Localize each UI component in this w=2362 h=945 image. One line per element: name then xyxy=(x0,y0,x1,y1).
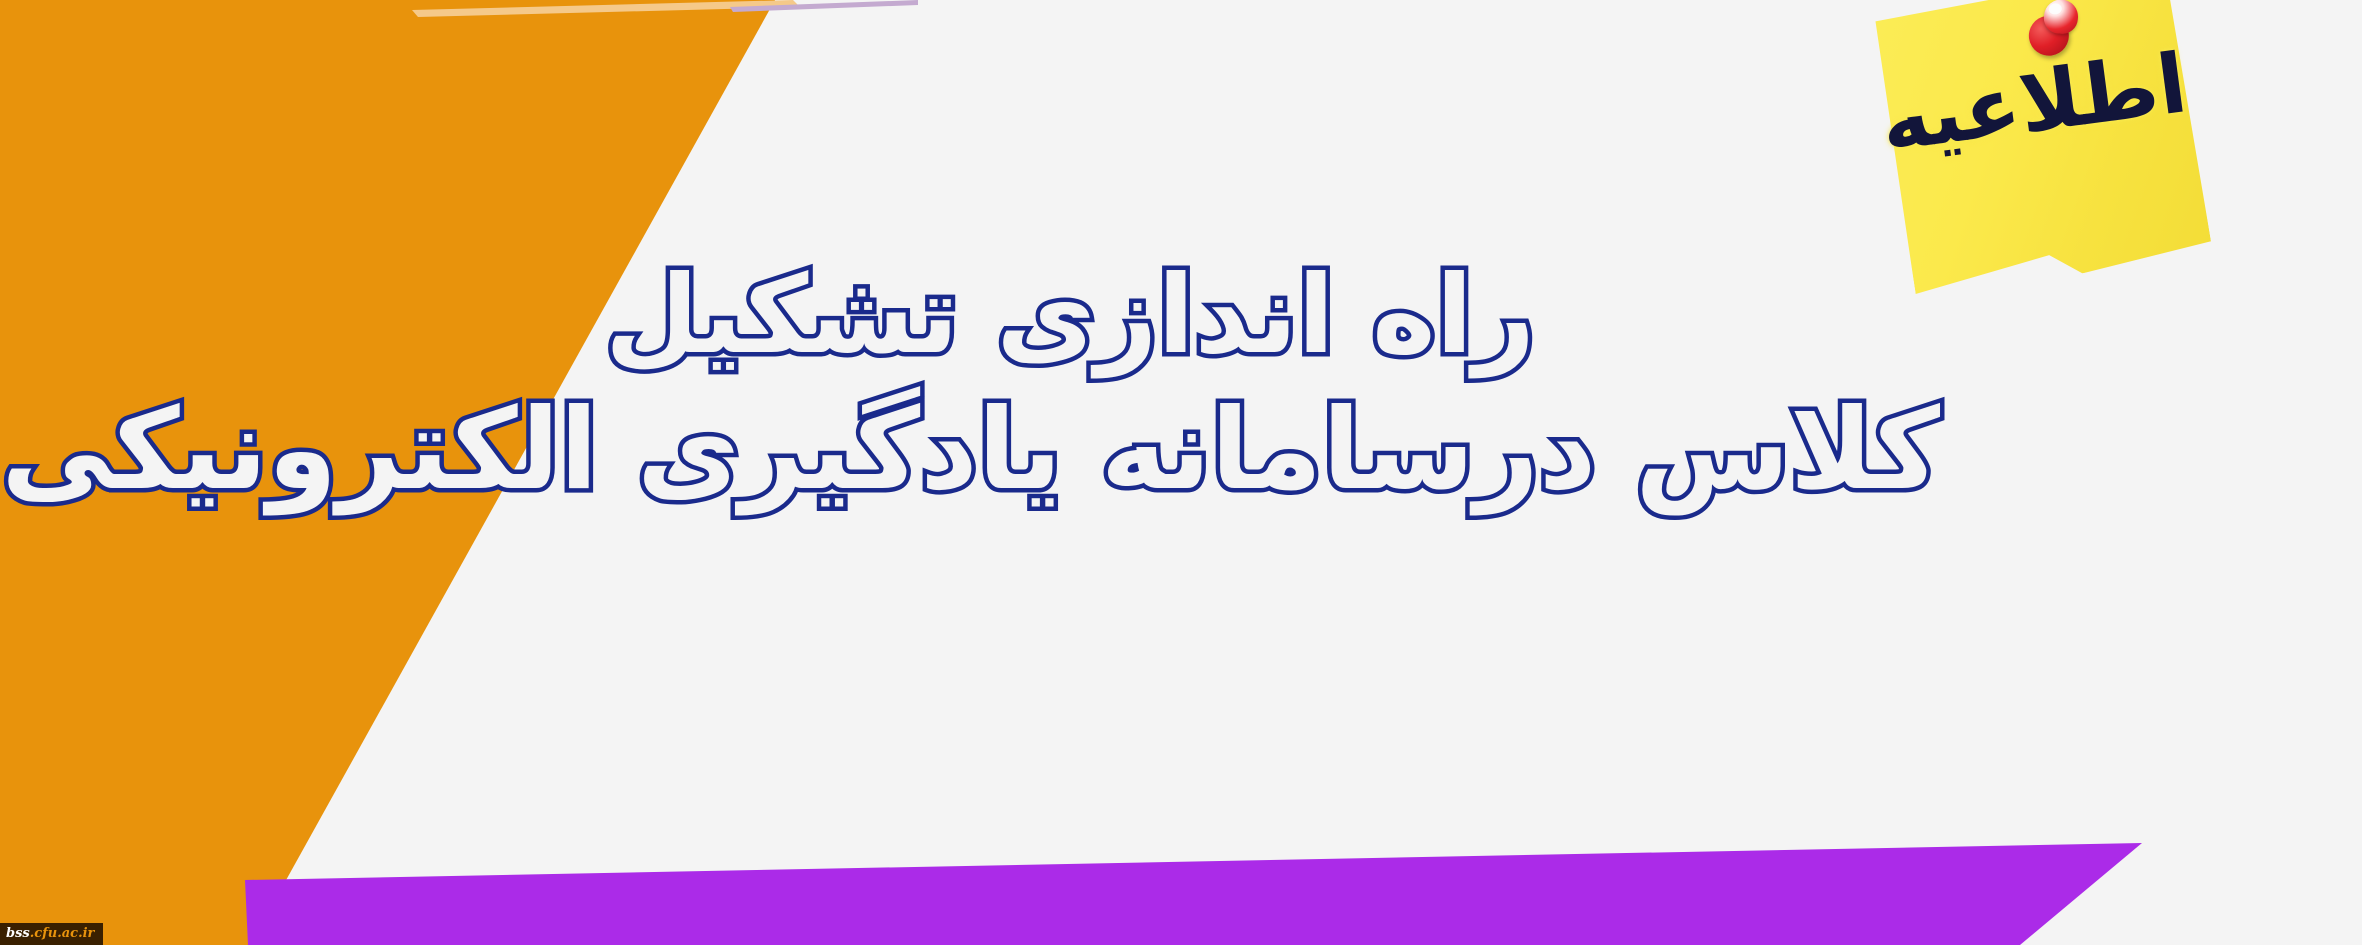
page-title: راه اندازی تشکیل کلاس درسامانه یادگیری ا… xyxy=(200,250,1940,518)
lavender-strip-shape xyxy=(730,0,918,12)
pushpin-icon xyxy=(2022,0,2089,67)
page-title-line-2-text: کلاس درسامانه یادگیری الکترونیکی xyxy=(1,385,1940,515)
peach-strip-shape xyxy=(412,0,800,17)
watermark-prefix: bss xyxy=(6,926,30,941)
announcement-banner: اطلاعیه راه اندازی تشکیل کلاس درسامانه ی… xyxy=(0,0,2362,945)
page-title-line-1: راه اندازی تشکیل xyxy=(200,250,1940,382)
site-watermark: bss.cfu.ac.ir xyxy=(0,923,103,945)
page-title-line-2: کلاس درسامانه یادگیری الکترونیکی(LMS) xyxy=(200,382,1940,519)
watermark-domain: .cfu.ac.ir xyxy=(30,926,95,941)
purple-wedge-shape xyxy=(245,843,2142,945)
